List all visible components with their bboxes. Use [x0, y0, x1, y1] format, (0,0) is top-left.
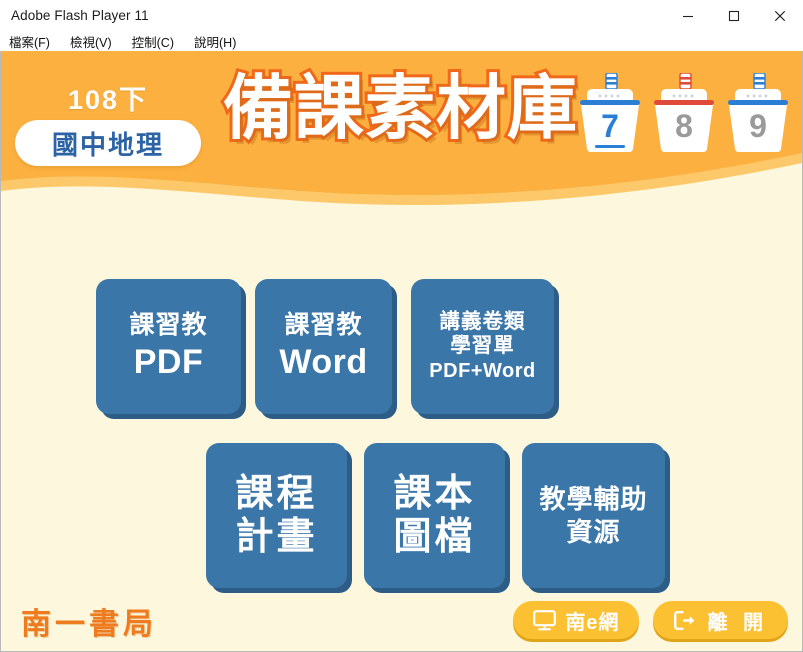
tile-line-2: PDF [134, 343, 204, 382]
tile-line-1: 教學輔助 [539, 483, 647, 516]
exit-button[interactable]: 離 開 [653, 601, 788, 639]
flash-stage: 108下 國中地理 備課素材庫 [0, 51, 803, 652]
maximize-icon [728, 10, 740, 22]
maximize-button[interactable] [711, 0, 757, 31]
tile-lesson-pdf[interactable]: 課習教 PDF [96, 279, 241, 414]
tile-line-1: 課程 [235, 473, 317, 516]
menu-bar: 檔案(F) 檢視(V) 控制(C) 說明(H) [0, 31, 803, 51]
tile-line-1: 課習教 [129, 311, 207, 341]
tile-textbook-images[interactable]: 課本 圖檔 [364, 443, 505, 588]
monitor-icon [533, 610, 556, 631]
minimize-button[interactable] [665, 0, 711, 31]
tile-lesson-word[interactable]: 課習教 Word [255, 279, 392, 414]
tile-line-2: 資源 [566, 516, 620, 549]
tile-course-plan[interactable]: 課程 計畫 [206, 443, 347, 588]
tile-line-2: 學習單 [450, 334, 515, 358]
resource-tile-grid: 課習教 PDF 課習教 Word 講義卷類 學習單 PDF+Word 課程 計畫… [1, 51, 802, 651]
menu-item-help[interactable]: 說明(H) [194, 32, 236, 51]
footer-bar: 南一書局 南e網 離 開 [1, 593, 802, 651]
nani-web-label: 南e網 [565, 606, 619, 635]
menu-item-file[interactable]: 檔案(F) [9, 32, 50, 51]
flash-player-window: Adobe Flash Player 11 檔案(F) 檢視(V [0, 0, 803, 652]
exit-label: 離 開 [707, 606, 768, 635]
tile-line-2: 圖檔 [393, 516, 475, 559]
publisher-logo: 南一書局 [21, 599, 157, 643]
tile-line-3: PDF+Word [429, 360, 535, 383]
menu-item-view[interactable]: 檢視(V) [70, 32, 112, 51]
tile-line-2: Word [279, 343, 367, 382]
title-bar: Adobe Flash Player 11 [0, 0, 803, 31]
window-title: Adobe Flash Player 11 [0, 8, 149, 23]
tile-line-1: 課習教 [284, 311, 362, 341]
menu-item-control[interactable]: 控制(C) [132, 32, 174, 51]
close-button[interactable] [757, 0, 803, 31]
nani-web-button[interactable]: 南e網 [513, 601, 639, 639]
tile-line-1: 課本 [393, 473, 475, 516]
tile-handout-worksheet[interactable]: 講義卷類 學習單 PDF+Word [411, 279, 554, 414]
window-controls [665, 0, 803, 31]
tile-teaching-aids[interactable]: 教學輔助 資源 [522, 443, 665, 588]
tile-line-2: 計畫 [235, 516, 317, 559]
minimize-icon [682, 10, 694, 22]
close-icon [774, 10, 786, 22]
exit-icon [673, 610, 698, 631]
footer-actions: 南e網 離 開 [513, 601, 788, 639]
tile-line-1: 講義卷類 [440, 310, 526, 334]
